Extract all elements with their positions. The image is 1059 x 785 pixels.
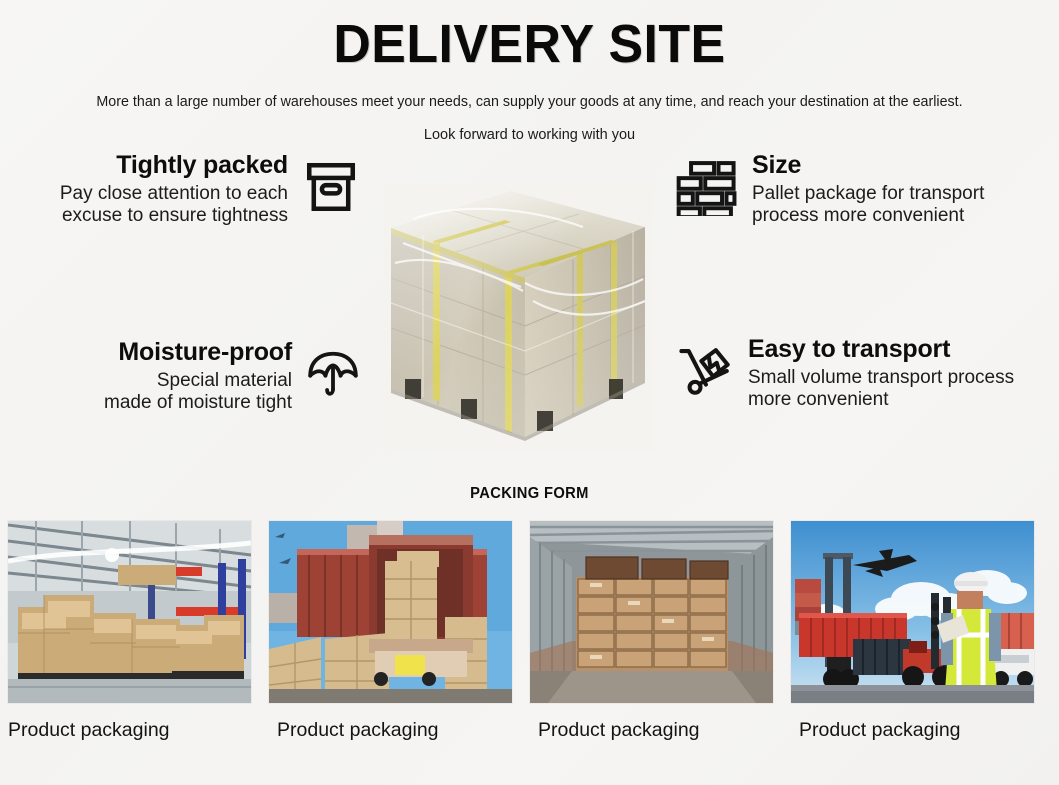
feature-title: Easy to transport [748,335,1014,364]
gallery-caption: Product packaging [791,719,1034,742]
pallet-illustration [383,183,653,451]
brick-wall-icon [676,158,738,221]
container-loading-illustration [269,521,512,703]
feature-moisture-proof: Moisture-proof Special material made of … [28,338,360,415]
feature-easy-to-transport: Easy to transport Small volume transport… [676,335,1058,412]
gallery-caption: Product packaging [8,719,251,742]
packing-form-gallery: Product packaging [0,521,1059,742]
feature-title: Moisture-proof [104,338,292,367]
feature-description: Pay close attention to each excuse to en… [60,183,288,228]
feature-text-easy-to-transport: Easy to transport Small volume transport… [748,335,1014,412]
gallery-caption: Product packaging [530,719,773,742]
container-interior-photo[interactable] [530,521,773,703]
page-title: DELIVERY SITE [21,16,1038,73]
gallery-item[interactable]: Product packaging [791,521,1034,742]
warehouse-illustration [8,521,251,703]
delivery-site-banner: DELIVERY SITE More than a large number o… [0,0,1059,785]
header-subtitle-line1: More than a large number of warehouses m… [8,95,1051,110]
umbrella-icon [306,347,360,406]
hand-truck-icon [676,342,734,405]
gallery-caption: Product packaging [269,719,512,742]
feature-tightly-packed: Tightly packed Pay close attention to ea… [0,151,360,228]
warehouse-pallets-photo[interactable] [8,521,251,703]
gallery-item[interactable]: Product packaging [8,521,251,742]
logistics-yard-photo[interactable] [791,521,1034,703]
feature-text-moisture-proof: Moisture-proof Special material made of … [104,338,292,415]
gallery-item[interactable]: Product packaging [530,521,773,742]
feature-text-tightly-packed: Tightly packed Pay close attention to ea… [60,151,288,228]
gallery-item[interactable]: Product packaging [269,521,512,742]
feature-description: Small volume transport process more conv… [748,367,1014,412]
logistics-yard-illustration [791,521,1034,703]
archive-box-icon [302,158,360,221]
shrink-wrapped-pallet-photo [383,183,653,451]
container-interior-illustration [530,521,773,703]
feature-text-size: Size Pallet package for transport proces… [752,151,984,228]
container-loading-photo[interactable] [269,521,512,703]
feature-description: Pallet package for transport process mor… [752,183,984,228]
header-subtitle-line2: Look forward to working with you [0,127,1059,143]
feature-title: Tightly packed [60,151,288,180]
header: DELIVERY SITE More than a large number o… [0,0,1059,143]
packing-form-label: PACKING FORM [42,485,1016,503]
feature-title: Size [752,151,984,180]
feature-size: Size Pallet package for transport proces… [676,151,1056,228]
feature-description: Special material made of moisture tight [104,370,292,415]
